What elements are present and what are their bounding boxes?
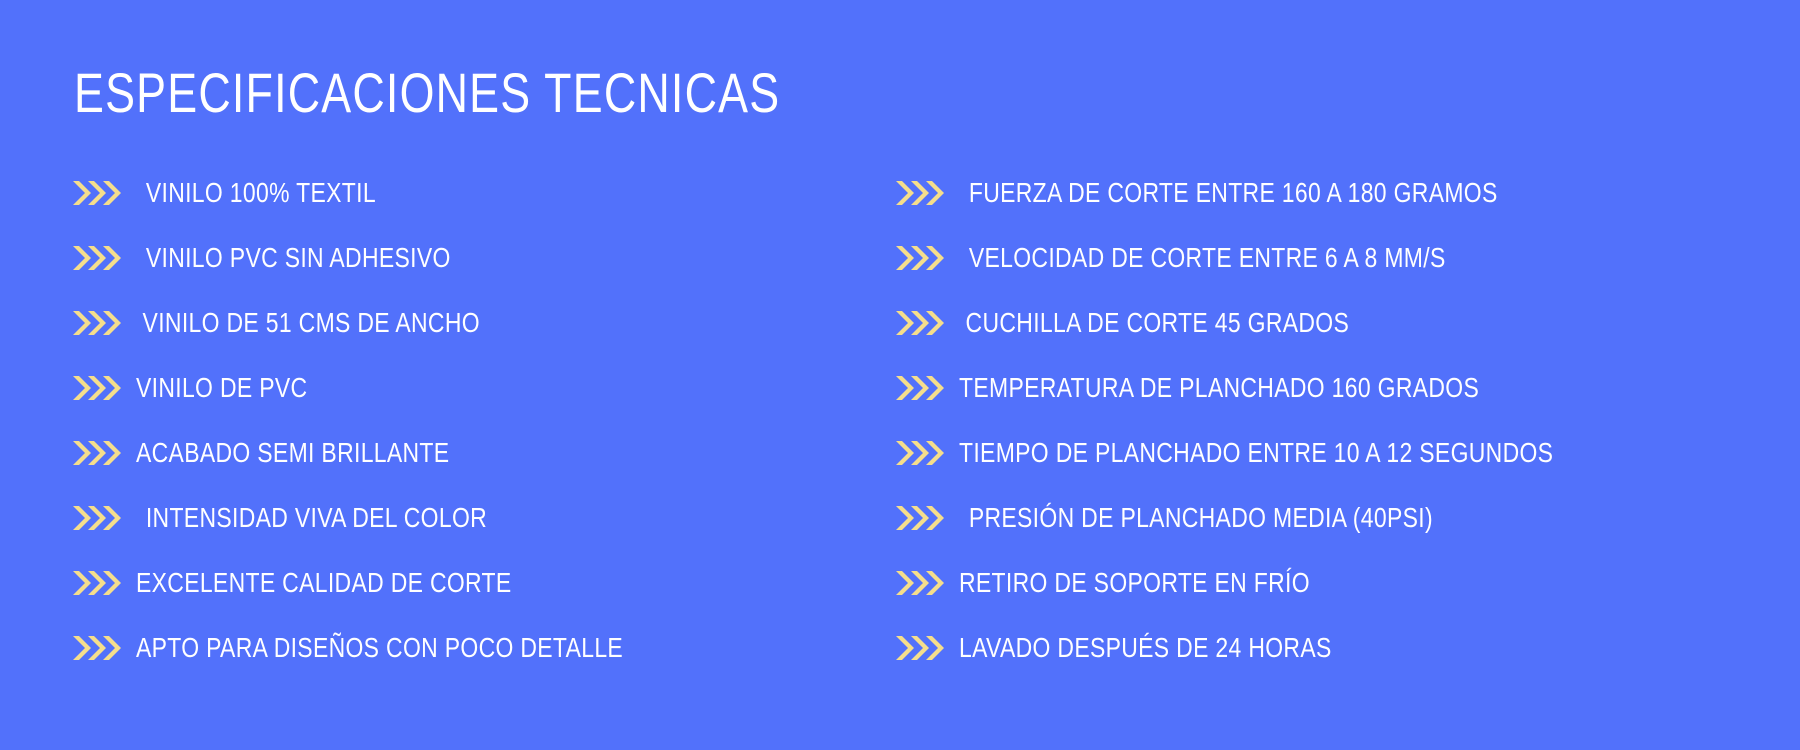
list-item: APTO PARA DISEÑOS CON POCO DETALLE: [72, 615, 832, 680]
list-item: VINILO PVC SIN ADHESIVO: [72, 225, 832, 290]
triple-chevron-right-icon: [72, 505, 124, 531]
triple-chevron-right-icon: [895, 180, 947, 206]
triple-chevron-right-icon: [72, 180, 124, 206]
list-item-label: VINILO DE 51 CMS DE ANCHO: [136, 308, 480, 338]
list-item-label: CUCHILLA DE CORTE 45 GRADOS: [959, 308, 1349, 338]
list-item-label: ACABADO SEMI BRILLANTE: [136, 438, 449, 468]
triple-chevron-right-icon: [72, 440, 124, 466]
page-title: ESPECIFICACIONES TECNICAS: [74, 62, 780, 124]
list-item: LAVADO DESPUÉS DE 24 HORAS: [895, 615, 1745, 680]
list-item: PRESIÓN DE PLANCHADO MEDIA (40PSI): [895, 485, 1745, 550]
list-item-label: RETIRO DE SOPORTE EN FRÍO: [959, 568, 1310, 598]
list-item-label: LAVADO DESPUÉS DE 24 HORAS: [959, 633, 1332, 663]
list-item-label: VINILO 100% TEXTIL: [136, 178, 376, 208]
list-item: TIEMPO DE PLANCHADO ENTRE 10 A 12 SEGUND…: [895, 420, 1745, 485]
list-item: INTENSIDAD VIVA DEL COLOR: [72, 485, 832, 550]
list-item-label: EXCELENTE CALIDAD DE CORTE: [136, 568, 512, 598]
triple-chevron-right-icon: [895, 440, 947, 466]
list-item-label: INTENSIDAD VIVA DEL COLOR: [136, 503, 487, 533]
specs-right-column: FUERZA DE CORTE ENTRE 160 A 180 GRAMOS V…: [895, 160, 1745, 680]
list-item: VINILO DE 51 CMS DE ANCHO: [72, 290, 832, 355]
triple-chevron-right-icon: [72, 635, 124, 661]
list-item-label: VINILO PVC SIN ADHESIVO: [136, 243, 451, 273]
list-item-label: PRESIÓN DE PLANCHADO MEDIA (40PSI): [959, 503, 1433, 533]
triple-chevron-right-icon: [895, 570, 947, 596]
list-item: FUERZA DE CORTE ENTRE 160 A 180 GRAMOS: [895, 160, 1745, 225]
list-item: VELOCIDAD DE CORTE ENTRE 6 A 8 MM/S: [895, 225, 1745, 290]
specs-columns: VINILO 100% TEXTIL VINILO PVC SIN ADHESI…: [0, 160, 1800, 680]
list-item-label: VINILO DE PVC: [136, 373, 307, 403]
list-item: RETIRO DE SOPORTE EN FRÍO: [895, 550, 1745, 615]
specifications-slide: ESPECIFICACIONES TECNICAS VINILO 100% TE…: [0, 0, 1800, 750]
triple-chevron-right-icon: [72, 375, 124, 401]
triple-chevron-right-icon: [72, 310, 124, 336]
list-item: CUCHILLA DE CORTE 45 GRADOS: [895, 290, 1745, 355]
list-item: TEMPERATURA DE PLANCHADO 160 GRADOS: [895, 355, 1745, 420]
list-item-label: APTO PARA DISEÑOS CON POCO DETALLE: [136, 633, 623, 663]
list-item: EXCELENTE CALIDAD DE CORTE: [72, 550, 832, 615]
triple-chevron-right-icon: [72, 245, 124, 271]
triple-chevron-right-icon: [72, 570, 124, 596]
list-item-label: TIEMPO DE PLANCHADO ENTRE 10 A 12 SEGUND…: [959, 438, 1553, 468]
triple-chevron-right-icon: [895, 635, 947, 661]
list-item-label: FUERZA DE CORTE ENTRE 160 A 180 GRAMOS: [959, 178, 1498, 208]
specs-left-column: VINILO 100% TEXTIL VINILO PVC SIN ADHESI…: [72, 160, 832, 680]
list-item: VINILO 100% TEXTIL: [72, 160, 832, 225]
list-item-label: TEMPERATURA DE PLANCHADO 160 GRADOS: [959, 373, 1479, 403]
list-item: ACABADO SEMI BRILLANTE: [72, 420, 832, 485]
triple-chevron-right-icon: [895, 375, 947, 401]
triple-chevron-right-icon: [895, 310, 947, 336]
triple-chevron-right-icon: [895, 245, 947, 271]
list-item: VINILO DE PVC: [72, 355, 832, 420]
triple-chevron-right-icon: [895, 505, 947, 531]
list-item-label: VELOCIDAD DE CORTE ENTRE 6 A 8 MM/S: [959, 243, 1446, 273]
